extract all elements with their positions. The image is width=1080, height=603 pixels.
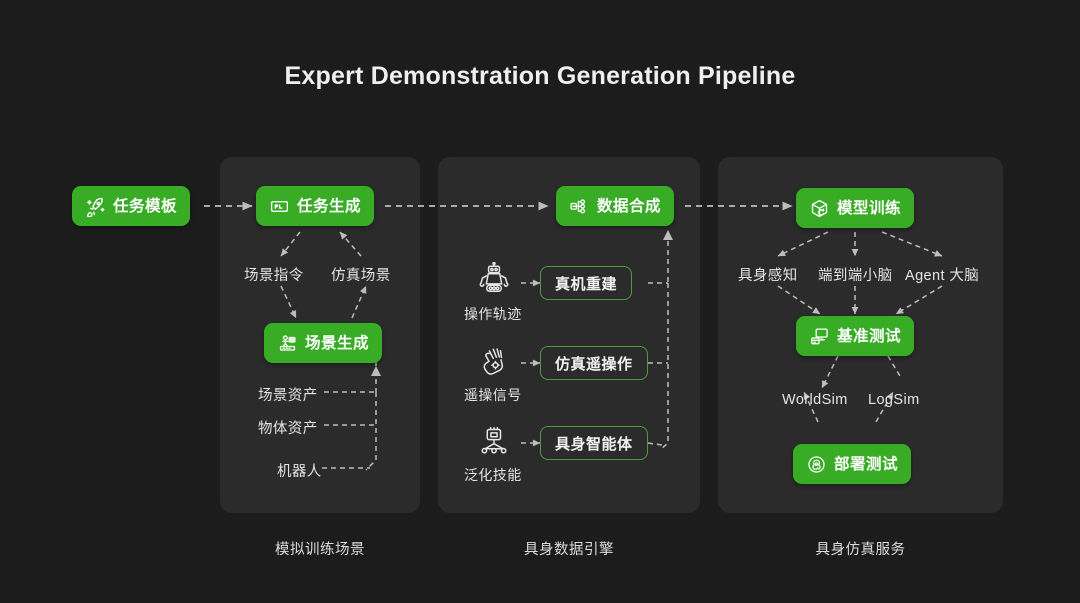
label-generalization-skills: 泛化技能 [464, 465, 522, 485]
node-task-template[interactable]: 任务模板 [72, 186, 190, 226]
monitor-icon [809, 326, 830, 347]
node-label: 数据合成 [597, 199, 661, 215]
pipeline-diagram: Expert Demonstration Generation Pipeline [0, 0, 1080, 603]
node-scene-generation[interactable]: 场景生成 [264, 323, 382, 363]
node-label: 场景生成 [305, 336, 369, 352]
node-simulated-teleoperation[interactable]: 仿真遥操作 [540, 346, 648, 380]
node-data-synthesis[interactable]: 数据合成 [556, 186, 674, 226]
chip-robot-icon [476, 424, 512, 465]
label-scene-assets: 场景资产 [258, 384, 318, 405]
caption-panel-1: 模拟训练场景 [220, 538, 420, 559]
rocket-icon [85, 196, 106, 217]
label-worldsim: WorldSim [782, 392, 848, 408]
label-simulation-scene: 仿真场景 [331, 264, 391, 285]
caption-panel-2: 具身数据引擎 [438, 538, 700, 559]
caption-panel-3: 具身仿真服务 [718, 538, 1003, 559]
label-teleoperation-signal: 遥操信号 [464, 385, 522, 405]
label-scene-instruction: 场景指令 [244, 264, 304, 285]
glove-icon [476, 344, 512, 385]
playlist-icon [269, 196, 290, 217]
node-label: 具身智能体 [555, 433, 633, 454]
node-label: 基准测试 [837, 329, 901, 345]
node-label: 部署测试 [834, 457, 898, 473]
node-model-training[interactable]: 模型训练 [796, 188, 914, 228]
node-label: 模型训练 [837, 201, 901, 217]
label-operation-trajectory: 操作轨迹 [464, 304, 522, 324]
label-agent-brain: Agent 大脑 [905, 264, 979, 285]
node-label: 任务模板 [113, 199, 177, 215]
cube-refresh-icon [809, 198, 830, 219]
node-label: 仿真遥操作 [555, 353, 633, 374]
node-label: 任务生成 [297, 199, 361, 215]
label-end-to-end-cerebellum: 端到端小脑 [818, 264, 893, 285]
node-task-generation[interactable]: 任务生成 [256, 186, 374, 226]
node-label: 真机重建 [555, 273, 617, 294]
node-benchmark-test[interactable]: 基准测试 [796, 316, 914, 356]
label-logsim: LogSim [868, 392, 920, 408]
robot-icon [476, 262, 512, 303]
circular-deploy-icon [806, 454, 827, 475]
node-embodied-agent[interactable]: 具身智能体 [540, 426, 648, 460]
label-embodied-perception: 具身感知 [738, 264, 798, 285]
label-robot: 机器人 [277, 460, 322, 481]
scene-robot-icon [277, 333, 298, 354]
page-title: Expert Demonstration Generation Pipeline [0, 62, 1080, 91]
label-object-assets: 物体资产 [258, 417, 318, 438]
node-deployment-test[interactable]: 部署测试 [793, 444, 911, 484]
node-real-machine-reconstruction[interactable]: 真机重建 [540, 266, 632, 300]
data-nodes-icon [569, 196, 590, 217]
